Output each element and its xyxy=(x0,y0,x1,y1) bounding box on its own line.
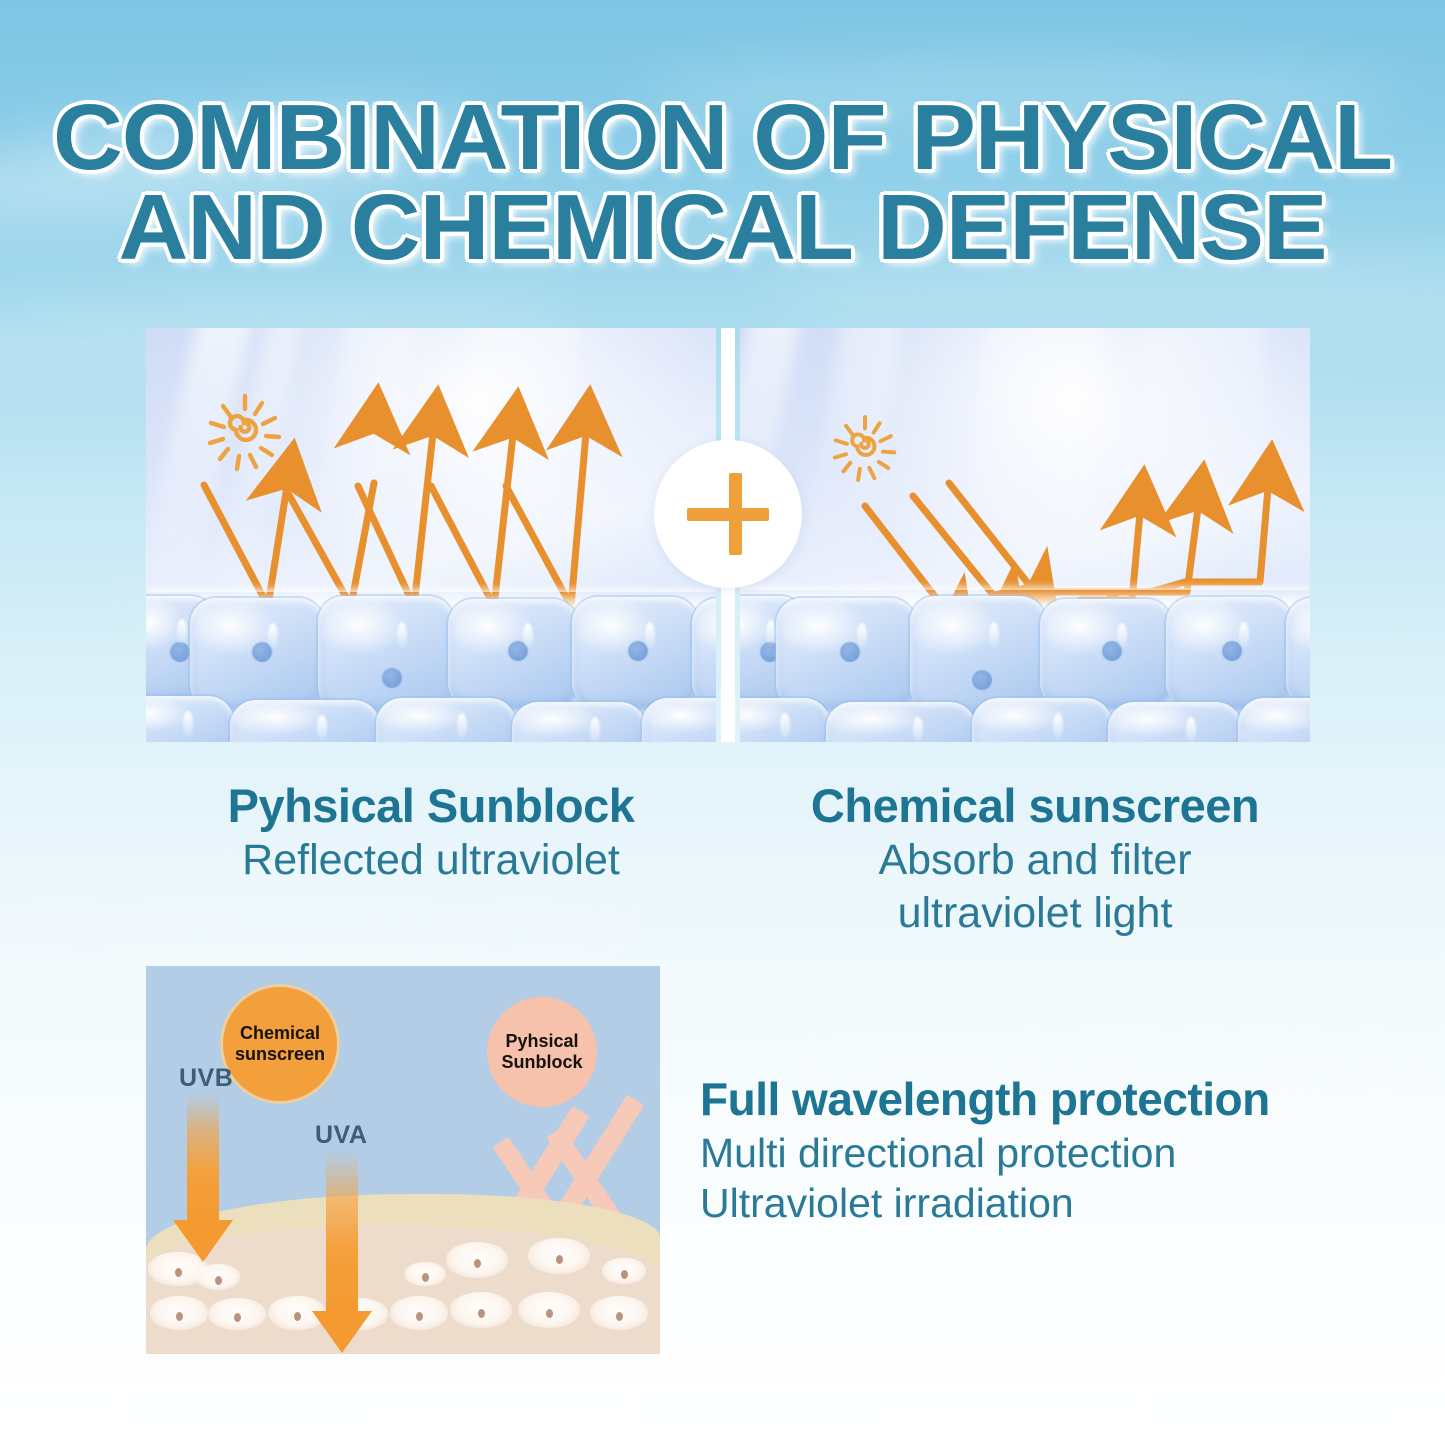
skin-cell-row xyxy=(146,592,716,742)
caption-chemical: Chemical sunscreen Absorb and filter ult… xyxy=(740,778,1330,940)
comparison-panels xyxy=(146,328,1310,742)
caption-chemical-subtitle: Absorb and filter ultraviolet light xyxy=(740,834,1330,940)
caption-physical-heading: Pyhsical Sunblock xyxy=(146,778,716,834)
chemical-sunscreen-badge-label: Chemical sunscreen xyxy=(235,1023,325,1064)
skin-cell-row xyxy=(740,592,1310,742)
uva-label: UVA xyxy=(315,1121,367,1150)
panel-physical-sunblock xyxy=(146,328,716,742)
plus-icon xyxy=(654,440,802,588)
bottom-heading: Full wavelength protection xyxy=(700,1070,1400,1128)
skin-penetration-diagram: Chemical sunscreen Pyhsical Sunblock UVB… xyxy=(146,966,660,1354)
panel-chemical-sunscreen xyxy=(740,328,1310,742)
cloud-wisp xyxy=(0,880,640,950)
page-title: COMBINATION OF PHYSICAL AND CHEMICAL DEF… xyxy=(0,92,1445,272)
caption-chemical-heading: Chemical sunscreen xyxy=(740,778,1330,834)
sun-icon xyxy=(828,412,902,486)
bottom-subtitle: Multi directional protection Ultraviolet… xyxy=(700,1128,1400,1228)
sun-icon xyxy=(202,390,288,476)
physical-sunblock-badge: Pyhsical Sunblock xyxy=(487,997,597,1107)
uvb-arrow-icon xyxy=(173,1094,233,1262)
uva-arrow-icon xyxy=(312,1151,372,1353)
uvb-label: UVB xyxy=(179,1064,233,1093)
full-wavelength-text-block: Full wavelength protection Multi directi… xyxy=(700,1070,1400,1228)
caption-physical: Pyhsical Sunblock Reflected ultraviolet xyxy=(146,778,716,887)
poster-canvas: COMBINATION OF PHYSICAL AND CHEMICAL DEF… xyxy=(0,0,1445,1445)
chemical-sunscreen-badge: Chemical sunscreen xyxy=(223,987,337,1101)
physical-sunblock-badge-label: Pyhsical Sunblock xyxy=(501,1031,582,1072)
caption-physical-subtitle: Reflected ultraviolet xyxy=(146,834,716,887)
